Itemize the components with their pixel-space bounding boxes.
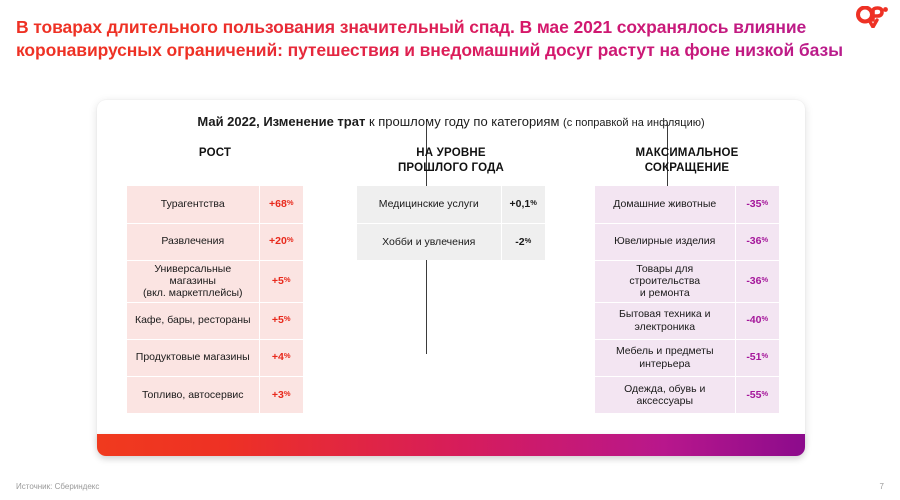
percent-sign: % <box>762 275 769 284</box>
columns-wrapper: РОСТ Турагентства +68% Развлечения +20% <box>97 144 805 417</box>
column-growth: РОСТ Турагентства +68% Развлечения +20% <box>97 144 333 417</box>
table-row[interactable]: Хобби и увлечения -2% <box>357 223 545 260</box>
row-label-line2: интерьера <box>639 358 690 370</box>
row-label: Одежда, обувь и аксессуары <box>595 376 735 413</box>
table-row[interactable]: Кафе, бары, рестораны +5% <box>127 302 303 339</box>
row-value-number: +0,1 <box>510 198 531 210</box>
column-decline: МАКСИМАЛЬНОЕ СОКРАЩЕНИЕ Домашние животны… <box>569 144 805 417</box>
row-value: +4% <box>259 339 303 376</box>
row-value: +20% <box>259 223 303 260</box>
row-value-number: -36 <box>746 235 761 247</box>
percent-sign: % <box>284 314 291 323</box>
row-value: -55% <box>735 376 779 413</box>
row-label-line2: аксессуары <box>637 395 694 407</box>
percent-sign: % <box>762 198 769 207</box>
card-title-bold: Май 2022, Изменение трат <box>197 114 365 129</box>
row-value: -35% <box>735 186 779 223</box>
percent-sign: % <box>284 351 291 360</box>
row-value: -2% <box>501 223 545 260</box>
row-label-line1: Бытовая техника и <box>619 308 711 320</box>
table-growth: Турагентства +68% Развлечения +20% Униве… <box>127 186 303 413</box>
row-label-line2: (вкл. маркетплейсы) <box>143 287 242 299</box>
percent-sign: % <box>762 351 769 360</box>
spending-change-card: Май 2022, Изменение трат к прошлому году… <box>97 100 805 445</box>
column-heading-decline: МАКСИМАЛЬНОЕ СОКРАЩЕНИЕ <box>635 144 738 186</box>
row-label: Турагентства <box>127 186 259 223</box>
row-label-line1: Товары для строительства <box>629 263 700 287</box>
row-value: -51% <box>735 339 779 376</box>
percent-sign: % <box>762 235 769 244</box>
percent-sign: % <box>284 275 291 284</box>
column-heading-line: МАКСИМАЛЬНОЕ <box>635 146 738 161</box>
row-label: Развлечения <box>127 223 259 260</box>
table-row[interactable]: Мебель и предметы интерьера -51% <box>595 339 779 376</box>
table-row[interactable]: Топливо, автосервис +3% <box>127 376 303 413</box>
row-value: +68% <box>259 186 303 223</box>
row-label: Медицинские услуги <box>357 186 501 223</box>
row-value-number: -40 <box>746 314 761 326</box>
row-label-line1: Хобби и увлечения <box>382 236 475 248</box>
table-decline: Домашние животные -35% Ювелирные изделия… <box>595 186 779 413</box>
page-number: 7 <box>880 482 884 491</box>
row-value: +5% <box>259 260 303 302</box>
row-label: Мебель и предметы интерьера <box>595 339 735 376</box>
row-label: Универсальные магазины (вкл. маркетплейс… <box>127 260 259 302</box>
card-title-note: (с поправкой на инфляцию) <box>563 117 705 129</box>
percent-sign: % <box>525 236 532 245</box>
column-heading-growth: РОСТ <box>199 144 231 186</box>
row-label-line1: Кафе, бары, рестораны <box>135 314 251 326</box>
column-flat: НА УРОВНЕ ПРОШЛОГО ГОДА Медицинские услу… <box>333 144 569 417</box>
row-value: -36% <box>735 260 779 302</box>
row-label-line1: Домашние животные <box>613 198 716 210</box>
column-heading-line: СОКРАЩЕНИЕ <box>635 161 738 176</box>
row-label: Ювелирные изделия <box>595 223 735 260</box>
column-heading-line: ПРОШЛОГО ГОДА <box>398 161 504 176</box>
row-label-line1: Универсальные магазины <box>154 263 231 287</box>
row-label-line2: электроника <box>634 321 695 333</box>
table-row[interactable]: Ювелирные изделия -36% <box>595 223 779 260</box>
row-value-number: +5 <box>272 275 284 287</box>
percent-sign: % <box>284 389 291 398</box>
row-label: Товары для строительства и ремонта <box>595 260 735 302</box>
row-label: Продуктовые магазины <box>127 339 259 376</box>
card-title: Май 2022, Изменение трат к прошлому году… <box>97 114 805 129</box>
table-row[interactable]: Универсальные магазины (вкл. маркетплейс… <box>127 260 303 302</box>
gradient-accent-bar <box>97 434 805 456</box>
row-value-number: -55 <box>746 389 761 401</box>
row-label-line1: Развлечения <box>161 235 224 247</box>
row-value-number: +68 <box>269 198 287 210</box>
table-row[interactable]: Одежда, обувь и аксессуары -55% <box>595 376 779 413</box>
row-label-line1: Топливо, автосервис <box>142 389 244 401</box>
row-value-number: +3 <box>272 389 284 401</box>
row-value-number: +4 <box>272 351 284 363</box>
row-value-number: -51 <box>746 351 761 363</box>
row-label-line1: Ювелирные изделия <box>614 235 715 247</box>
table-flat: Медицинские услуги +0,1% Хобби и увлечен… <box>357 186 545 260</box>
row-value: -40% <box>735 302 779 339</box>
row-value: +5% <box>259 302 303 339</box>
row-label-line1: Одежда, обувь и <box>624 383 705 395</box>
row-value-number: -35 <box>746 198 761 210</box>
percent-sign: % <box>287 235 294 244</box>
source-note: Источник: Сбериндекс <box>16 482 99 491</box>
column-heading-line: РОСТ <box>199 146 231 161</box>
row-label-line1: Продуктовые магазины <box>136 351 250 363</box>
row-label: Топливо, автосервис <box>127 376 259 413</box>
row-label: Кафе, бары, рестораны <box>127 302 259 339</box>
percent-sign: % <box>762 389 769 398</box>
table-row[interactable]: Бытовая техника и электроника -40% <box>595 302 779 339</box>
row-label-line2: и ремонта <box>640 287 690 299</box>
row-value-number: -36 <box>746 275 761 287</box>
table-row[interactable]: Турагентства +68% <box>127 186 303 223</box>
row-value: -36% <box>735 223 779 260</box>
table-row[interactable]: Развлечения +20% <box>127 223 303 260</box>
row-value-number: -2 <box>515 236 524 248</box>
percent-sign: % <box>530 198 537 207</box>
table-row[interactable]: Домашние животные -35% <box>595 186 779 223</box>
row-label-line1: Мебель и предметы <box>616 345 714 357</box>
table-row[interactable]: Медицинские услуги +0,1% <box>357 186 545 223</box>
percent-sign: % <box>762 314 769 323</box>
row-label: Бытовая техника и электроника <box>595 302 735 339</box>
omd-logo-icon <box>856 6 890 28</box>
column-heading-flat: НА УРОВНЕ ПРОШЛОГО ГОДА <box>398 144 504 186</box>
table-row[interactable]: Продуктовые магазины +4% <box>127 339 303 376</box>
row-value: +3% <box>259 376 303 413</box>
page-title: В товарах длительного пользования значит… <box>16 16 846 63</box>
card-title-rest: к прошлому году по категориям <box>365 114 563 129</box>
row-label-line1: Медицинские услуги <box>379 198 479 210</box>
row-value-number: +20 <box>269 235 287 247</box>
slide: В товарах длительного пользования значит… <box>0 0 900 500</box>
column-heading-line: НА УРОВНЕ <box>398 146 504 161</box>
percent-sign: % <box>287 198 294 207</box>
row-label-line1: Турагентства <box>161 198 225 210</box>
table-row[interactable]: Товары для строительства и ремонта -36% <box>595 260 779 302</box>
row-label: Домашние животные <box>595 186 735 223</box>
row-label: Хобби и увлечения <box>357 223 501 260</box>
row-value: +0,1% <box>501 186 545 223</box>
row-value-number: +5 <box>272 314 284 326</box>
